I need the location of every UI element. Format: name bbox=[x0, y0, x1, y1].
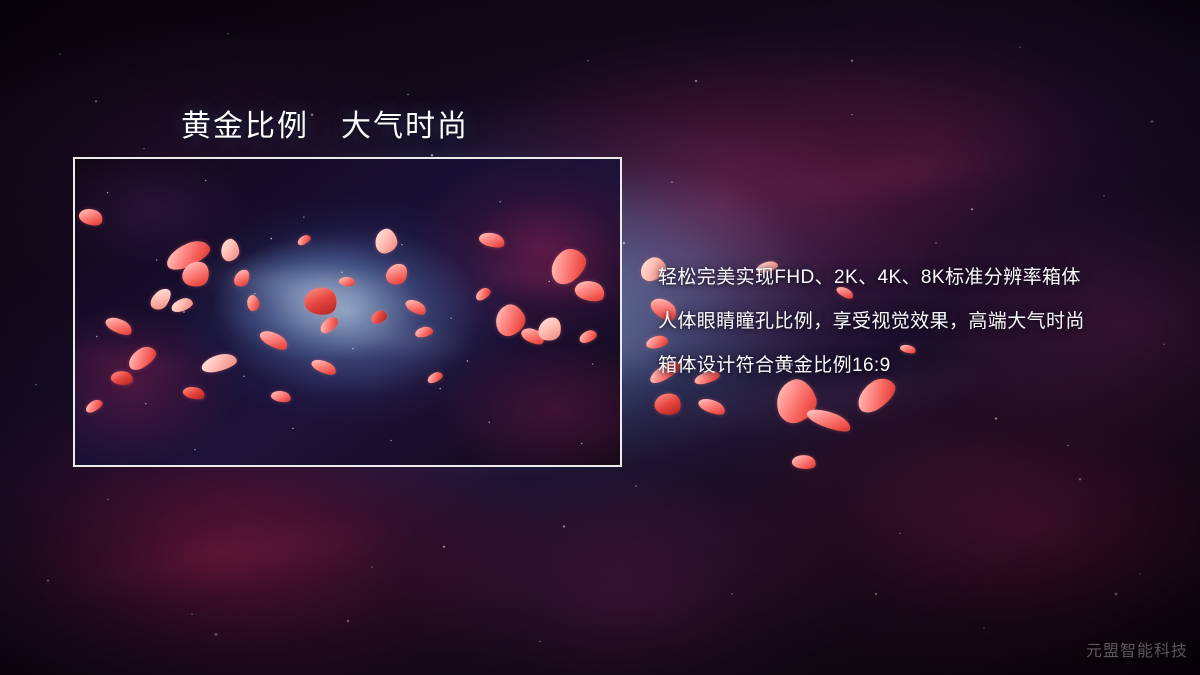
description-line-2: 人体眼睛瞳孔比例，享受视觉效果，高端大气时尚 bbox=[658, 300, 1178, 344]
description-line-3: 箱体设计符合黄金比例16:9 bbox=[658, 344, 1178, 388]
presentation-slide: 黄金比例 大气时尚 轻松完美实现FHD、2K、4K、8K标准分辨率箱体 人体眼睛… bbox=[0, 0, 1200, 675]
panel-starfield bbox=[75, 159, 620, 465]
watermark: 元盟智能科技 bbox=[1086, 637, 1188, 661]
preview-frame bbox=[73, 157, 622, 467]
description-line-1: 轻松完美实现FHD、2K、4K、8K标准分辨率箱体 bbox=[658, 256, 1178, 300]
feature-description: 轻松完美实现FHD、2K、4K、8K标准分辨率箱体 人体眼睛瞳孔比例，享受视觉效… bbox=[658, 256, 1178, 388]
page-title: 黄金比例 大气时尚 bbox=[181, 101, 469, 145]
